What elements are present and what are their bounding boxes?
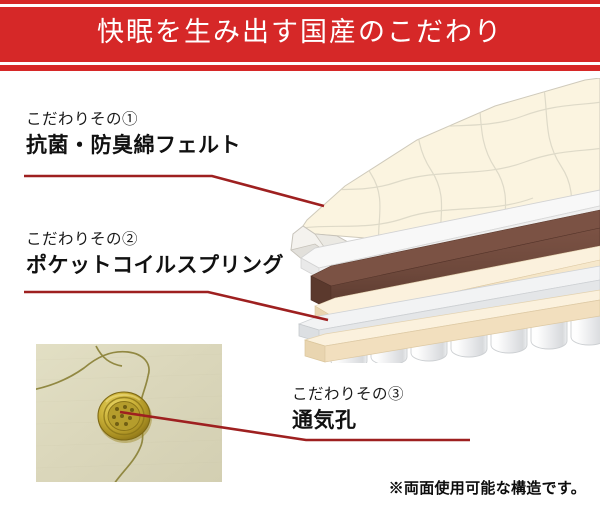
infographic-page: 快眠を生み出す国産のこだわり	[0, 0, 600, 515]
callout-2-eyebrow: こだわりその②	[26, 228, 284, 250]
header-banner: 快眠を生み出す国産のこだわり	[0, 0, 600, 71]
banner-top-rule	[0, 4, 600, 7]
leader-line-1	[24, 170, 344, 210]
callout-pocket-coil: こだわりその② ポケットコイルスプリング	[26, 228, 284, 280]
banner-bottom-rule	[0, 62, 600, 65]
leader-line-3	[120, 412, 470, 448]
callout-1-eyebrow: こだわりその①	[26, 108, 241, 130]
page-title: 快眠を生み出す国産のこだわり	[0, 12, 600, 54]
callout-1-headline: 抗菌・防臭綿フェルト	[26, 130, 241, 160]
footnote-text: ※両面使用可能な構造です。	[389, 477, 586, 499]
callout-felt: こだわりその① 抗菌・防臭綿フェルト	[26, 108, 241, 160]
callout-2-headline: ポケットコイルスプリング	[26, 250, 284, 280]
callout-3-eyebrow: こだわりその③	[292, 383, 404, 405]
leader-line-2	[24, 288, 354, 324]
